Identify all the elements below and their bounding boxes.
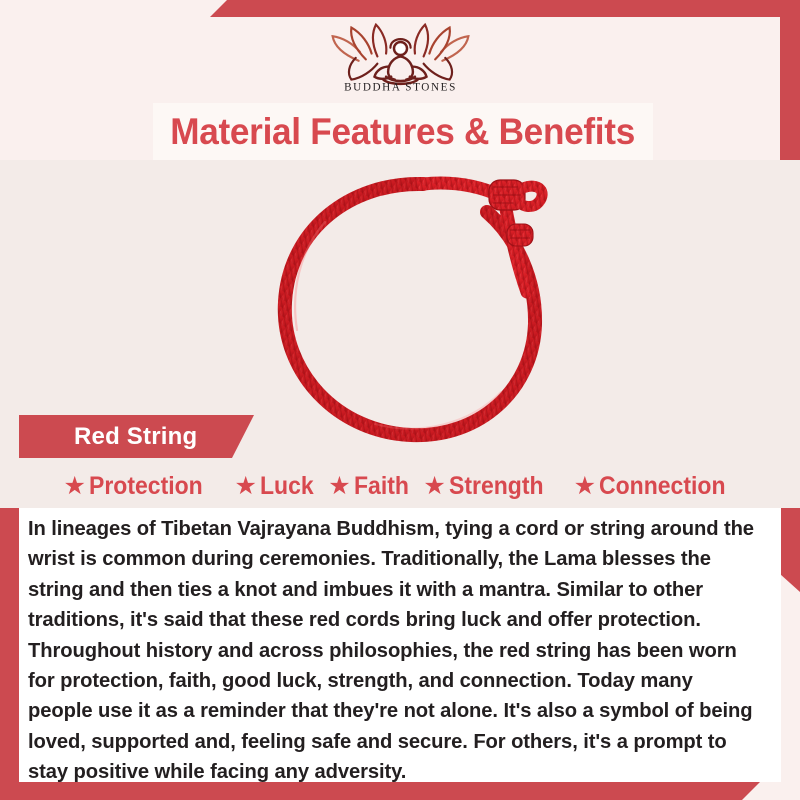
star-icon: ★ [63, 474, 85, 499]
lotus-meditation-icon: BUDDHA STONES [313, 16, 488, 94]
ribbon-label: Red String [19, 423, 197, 451]
benefit-connection: ★ Connection [574, 472, 737, 501]
benefit-label: Faith [354, 472, 409, 501]
star-icon: ★ [574, 474, 596, 499]
red-string-bracelet-image [255, 160, 585, 482]
benefit-faith: ★ Faith [328, 472, 413, 501]
star-icon: ★ [235, 474, 257, 499]
benefits-row: ★ Protection ★ Luck ★ Faith ★ Strength ★… [19, 466, 781, 506]
benefit-strength: ★ Strength [423, 472, 551, 501]
benefit-protection: ★ Protection [63, 472, 212, 501]
star-icon: ★ [423, 474, 445, 499]
star-icon: ★ [328, 474, 350, 499]
description-text: In lineages of Tibetan Vajrayana Buddhis… [28, 514, 754, 788]
benefit-label: Strength [449, 472, 544, 501]
title-band: Material Features & Benefits [153, 103, 653, 160]
benefit-label: Luck [260, 472, 314, 501]
description-panel: In lineages of Tibetan Vajrayana Buddhis… [19, 508, 781, 782]
benefit-label: Connection [599, 472, 726, 501]
product-name-ribbon: Red String [19, 415, 254, 458]
poster-root: BUDDHA STONES Material Features & Benefi… [0, 0, 800, 800]
benefit-luck: ★ Luck [235, 472, 319, 501]
page-title: Material Features & Benefits [171, 111, 636, 153]
brand-name: BUDDHA STONES [344, 81, 457, 93]
benefit-label: Protection [89, 472, 203, 501]
